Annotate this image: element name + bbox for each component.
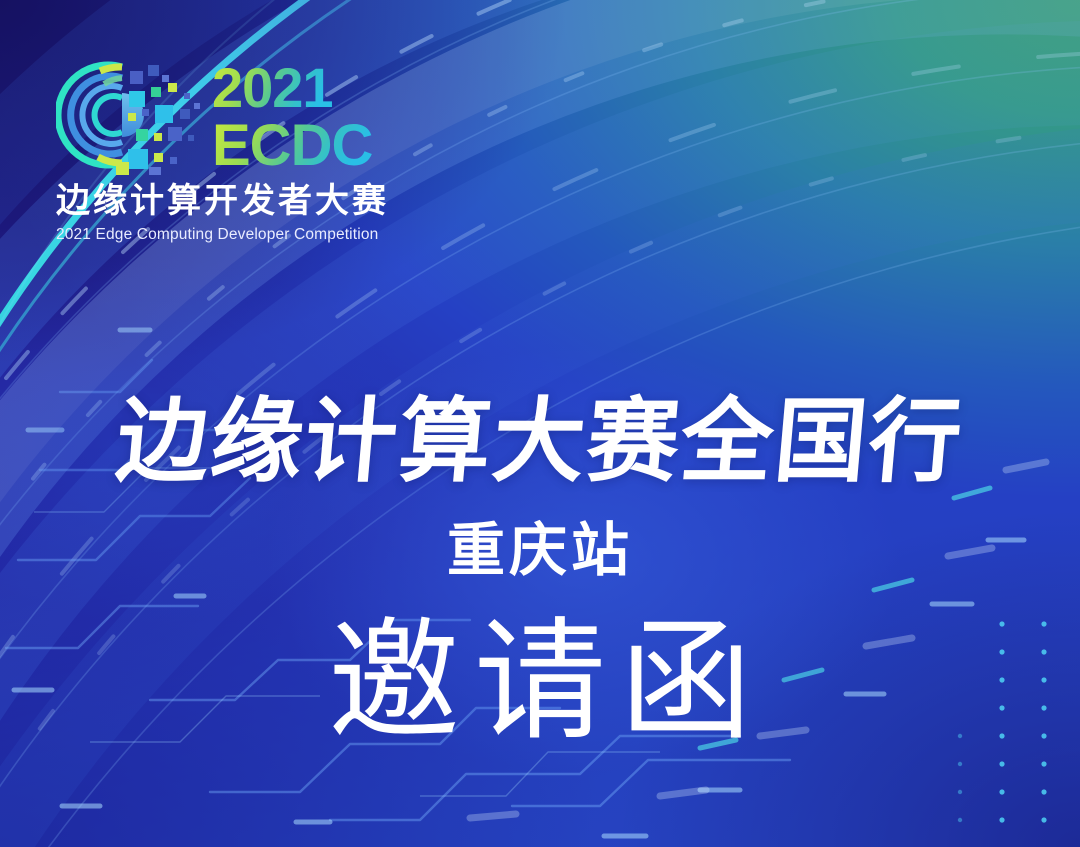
invitation-title: 邀请函 <box>0 608 1080 756</box>
logo-name-en: 2021 Edge Computing Developer Competitio… <box>56 226 406 244</box>
city-stop-subtitle: 重庆站 <box>0 522 1080 580</box>
logo-name-cn: 边缘计算开发者大赛 <box>56 182 406 221</box>
page-title: 边缘计算大赛全国行 <box>0 396 1080 488</box>
logo-pixel-squares <box>116 65 200 175</box>
ecdc-logo-mark-icon <box>56 57 208 175</box>
logo-year-text: 2021 <box>212 57 333 119</box>
invitation-poster: 2021 ECDC 边缘计算开发者大赛 2021 Edge Computing … <box>0 0 1080 847</box>
event-logo: 2021 ECDC 边缘计算开发者大赛 2021 Edge Computing … <box>56 56 406 244</box>
logo-acronym-text: ECDC <box>212 113 372 175</box>
ecdc-wordmark-icon: 2021 ECDC <box>212 57 402 175</box>
